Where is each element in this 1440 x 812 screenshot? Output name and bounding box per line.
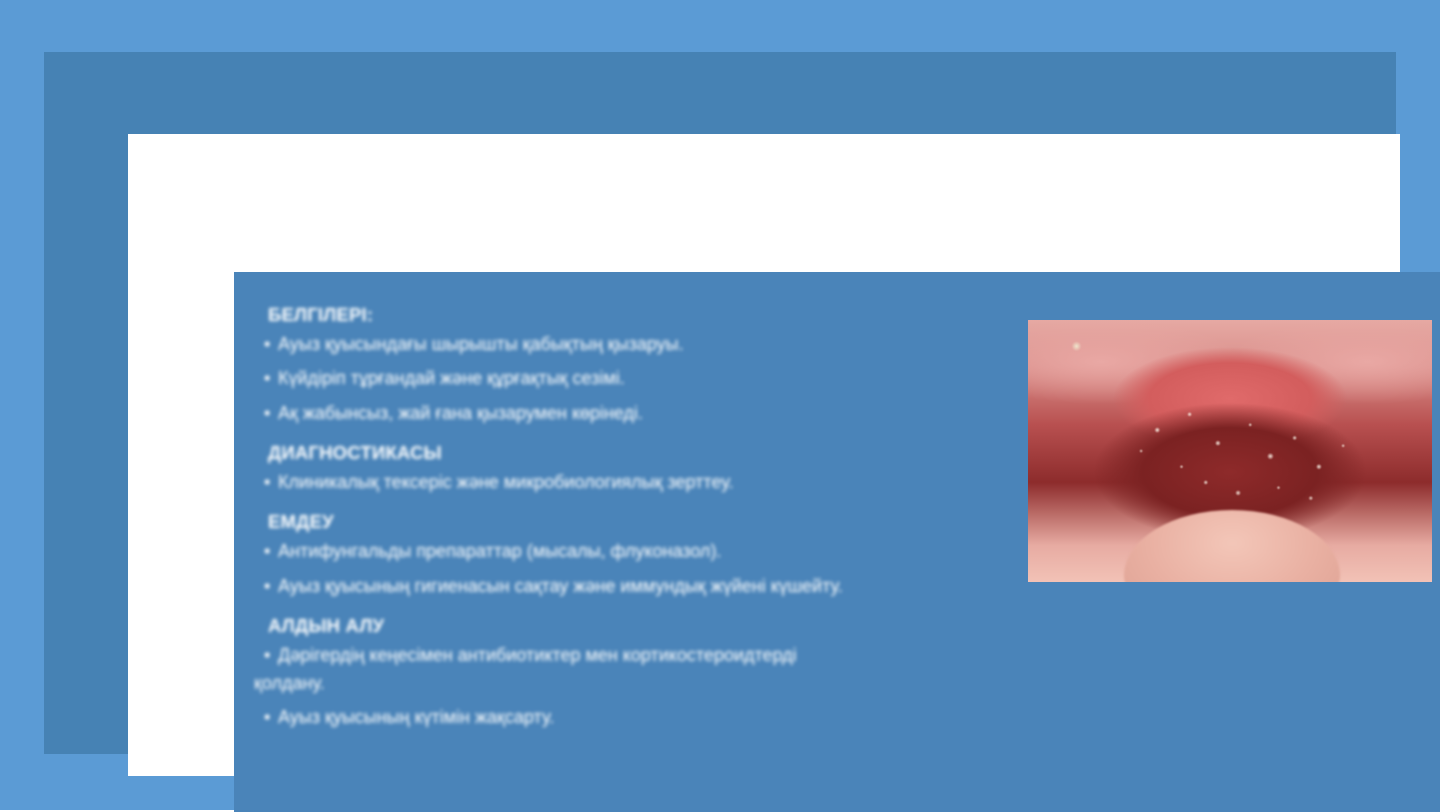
- list-item-text: Клиникалық тексеріс және микробиологиялы…: [278, 472, 733, 492]
- section-heading-prevention: АЛДЫН АЛУ: [268, 615, 1054, 637]
- list-item: •Антифунгальды препараттар (мысалы, флук…: [264, 538, 1054, 565]
- bullet-glyph: •: [264, 365, 278, 392]
- outer-blue-frame: БЕЛГІЛЕРІ: •Ауыз қуысындағы шырышты қабы…: [44, 52, 1396, 754]
- list-item-text: Ақ жабынсыз, жай ғана қызарумен көрінеді…: [278, 403, 643, 423]
- section-heading-treatment: ЕМДЕУ: [268, 511, 1054, 533]
- bullet-glyph: •: [264, 469, 278, 496]
- list-item: •Ауыз қуысындағы шырышты қабықтың қызару…: [264, 331, 1054, 358]
- content-panel: БЕЛГІЛЕРІ: •Ауыз қуысындағы шырышты қабы…: [234, 272, 1440, 812]
- list-item: •Ақ жабынсыз, жай ғана қызарумен көрінед…: [264, 400, 1054, 427]
- bullet-glyph: •: [264, 331, 278, 358]
- list-item-text: Ауыз қуысының гигиенасын сақтау және имм…: [278, 576, 843, 596]
- bullet-glyph: •: [264, 642, 278, 669]
- bullet-glyph: •: [264, 538, 278, 565]
- bullet-glyph: •: [264, 704, 278, 731]
- bullet-glyph: •: [264, 400, 278, 427]
- white-frame: БЕЛГІЛЕРІ: •Ауыз қуысындағы шырышты қабы…: [128, 134, 1400, 776]
- list-item: •Ауыз қуысының гигиенасын сақтау және им…: [264, 573, 1054, 600]
- list-item-text: Дәрігердің кеңесімен антибиотиктер мен к…: [278, 645, 797, 665]
- section-heading-diagnostics: ДИАГНОСТИКАСЫ: [268, 442, 1054, 464]
- list-item-text: Ауыз қуысының күтімін жақсарту.: [278, 707, 554, 727]
- list-item-text: Күйдіріп тұрғандай және құрғақтық сезімі…: [278, 368, 625, 388]
- bullet-glyph: •: [264, 573, 278, 600]
- spacer: [264, 607, 1054, 613]
- list-item: •Дәрігердің кеңесімен антибиотиктер мен …: [264, 642, 1054, 697]
- list-item-text-wrapped: қолдану.: [254, 670, 1054, 697]
- slide-root: БЕЛГІЛЕРІ: •Ауыз қуысындағы шырышты қабы…: [0, 0, 1440, 810]
- section-heading-symptoms: БЕЛГІЛЕРІ:: [268, 304, 1054, 326]
- list-item: •Клиникалық тексеріс және микробиологиял…: [264, 469, 1054, 496]
- list-item-text: Ауыз қуысындағы шырышты қабықтың қызаруы…: [278, 334, 684, 354]
- list-item-text: Антифунгальды препараттар (мысалы, флуко…: [278, 541, 721, 561]
- spacer: [264, 503, 1054, 509]
- text-column: БЕЛГІЛЕРІ: •Ауыз қуысындағы шырышты қабы…: [264, 304, 1054, 738]
- list-item: •Ауыз қуысының күтімін жақсарту.: [264, 704, 1054, 731]
- list-item: •Күйдіріп тұрғандай және құрғақтық сезім…: [264, 365, 1054, 392]
- spacer: [264, 434, 1054, 440]
- clinical-photo: [1028, 320, 1432, 582]
